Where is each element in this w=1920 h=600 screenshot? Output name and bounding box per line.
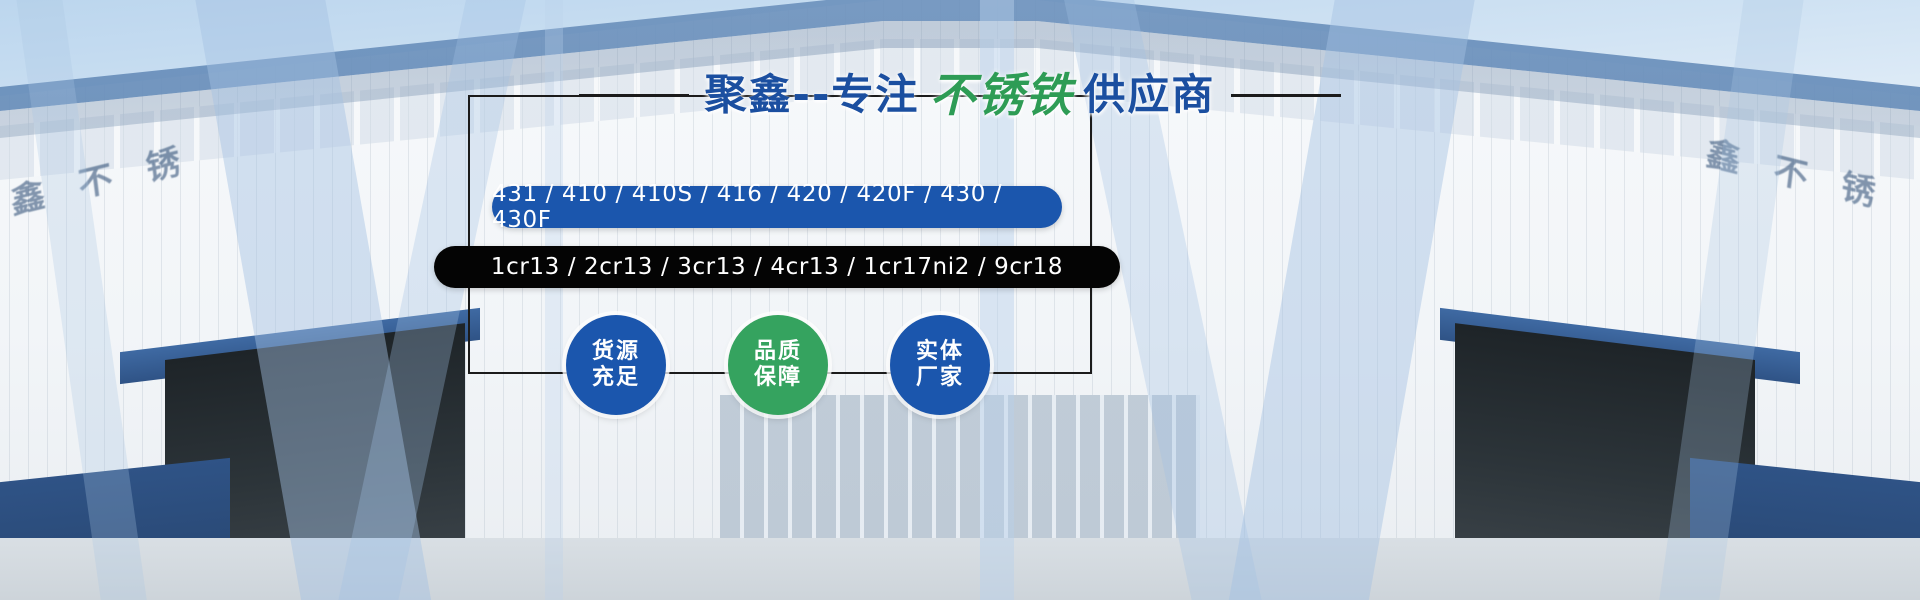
feature-badge-quality-line1: 品质: [754, 339, 802, 365]
promo-banner: 鑫不锈 鑫不锈 聚鑫--专注 不锈铁 供应商 431 / 410 / 410S …: [0, 0, 1920, 600]
feature-badge-quality-line2: 保障: [754, 365, 802, 391]
headline: 聚鑫--专注 不锈铁 供应商: [0, 72, 1920, 118]
headline-highlight: 不锈铁: [919, 72, 1083, 118]
grade-bar-secondary: 1cr13 / 2cr13 / 3cr13 / 4cr13 / 1cr17ni2…: [434, 246, 1120, 288]
headline-rule-right-icon: [1231, 94, 1341, 97]
feature-badge-supply-line1: 货源: [592, 339, 640, 365]
headline-part-three: 供应商: [1083, 74, 1215, 116]
feature-badge-supply: 货源 充足: [566, 315, 666, 415]
headline-rule-left-icon: [579, 94, 689, 97]
feature-badge-factory-line1: 实体: [916, 339, 964, 365]
headline-part-one: 聚鑫--专注: [705, 74, 920, 116]
feature-badge-factory: 实体 厂家: [890, 315, 990, 415]
banner-content: 聚鑫--专注 不锈铁 供应商 431 / 410 / 410S / 416 / …: [0, 0, 1920, 600]
grade-bar-primary: 431 / 410 / 410S / 416 / 420 / 420F / 43…: [492, 186, 1062, 228]
feature-badge-quality: 品质 保障: [728, 315, 828, 415]
feature-badge-factory-line2: 厂家: [916, 365, 964, 391]
feature-badge-group: 货源 充足 品质 保障 实体 厂家: [468, 310, 1088, 420]
feature-badge-supply-line2: 充足: [592, 365, 640, 391]
